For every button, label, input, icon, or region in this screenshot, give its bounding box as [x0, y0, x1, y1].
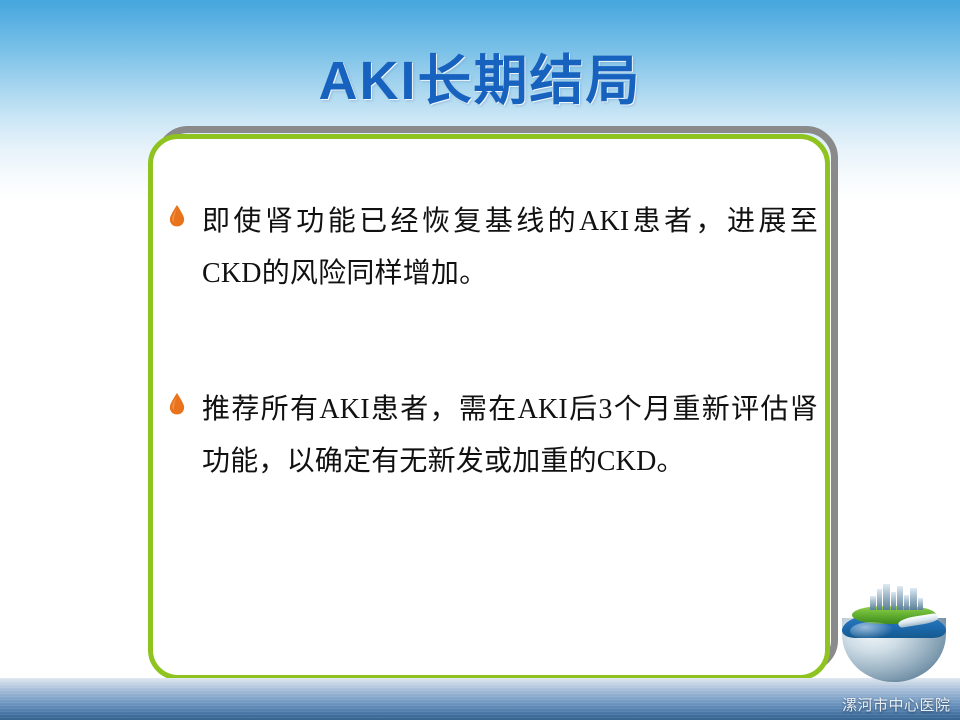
drop-bullet-icon	[168, 393, 194, 417]
globe-city-logo-icon	[836, 584, 954, 684]
city-skyline-icon	[870, 584, 926, 610]
page-title: AKI长期结局	[0, 36, 960, 115]
water-ripple-texture	[0, 678, 960, 720]
drop-bullet-icon	[168, 205, 194, 229]
list-item-label: 推荐所有AKI患者，需在AKI后3个月重新评估肾功能，以确定有无新发或加重的CK…	[202, 384, 818, 488]
list-item: 即使肾功能已经恢复基线的AKI患者，进展至CKD的风险同样增加。	[168, 196, 818, 300]
globe-map-detail	[860, 680, 938, 682]
list-item-label: 即使肾功能已经恢复基线的AKI患者，进展至CKD的风险同样增加。	[202, 196, 818, 300]
bullet-list: 即使肾功能已经恢复基线的AKI患者，进展至CKD的风险同样增加。 推荐所有AKI…	[168, 196, 818, 488]
list-item: 推荐所有AKI患者，需在AKI后3个月重新评估肾功能，以确定有无新发或加重的CK…	[168, 384, 818, 488]
slide-canvas: AKI长期结局 即使肾功能已经恢复基线的AKI患者，进展至CKD的风险同样增加。…	[0, 0, 960, 720]
hospital-watermark: 漯河市中心医院	[842, 694, 960, 715]
globe-highlight	[850, 622, 894, 640]
